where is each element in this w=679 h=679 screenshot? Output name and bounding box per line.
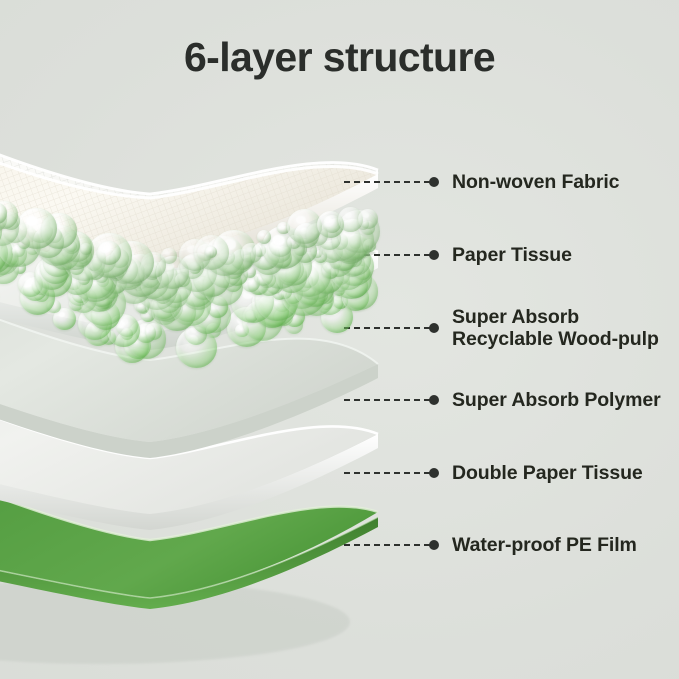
callout-label-super-absorb-recyclable-wood-pulp: Super AbsorbRecyclable Wood-pulp [452,306,659,350]
product-layer-diagram: 6-layer structure [0,0,679,679]
leader-dot-icon [429,540,439,550]
callout-label-non-woven-fabric: Non-woven Fabric [452,171,619,193]
callout-label-line1: Super Absorb [452,306,579,328]
leader-dot-icon [429,323,439,333]
leader-line-icon [344,472,430,474]
leader-dot-icon [429,468,439,478]
leader-dot-icon [429,395,439,405]
callout-label-paper-tissue: Paper Tissue [452,244,572,266]
leader-line-icon [344,254,430,256]
callout-group: Non-woven Fabric Paper Tissue Super Abso… [0,0,679,679]
leader-line-icon [344,544,430,546]
callout-label-super-absorb-polymer: Super Absorb Polymer [452,389,661,411]
leader-line-icon [344,327,430,329]
callout-label-double-paper-tissue: Double Paper Tissue [452,462,643,484]
leader-line-icon [344,399,430,401]
leader-dot-icon [429,177,439,187]
callout-label-line2: Recyclable Wood-pulp [452,328,659,350]
callout-label-water-proof-pe-film: Water-proof PE Film [452,534,637,556]
leader-line-icon [344,181,430,183]
leader-dot-icon [429,250,439,260]
